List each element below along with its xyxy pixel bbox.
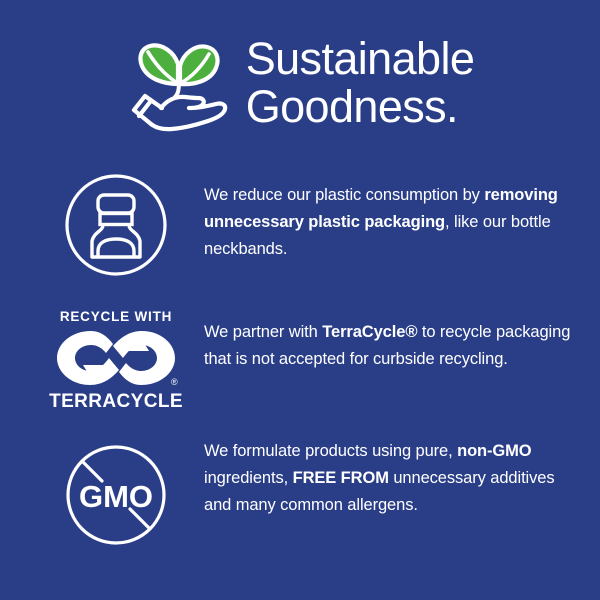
feature-text-gmo: We formulate products using pure, non-GM… (180, 430, 600, 519)
feature-row-gmo: GMO We formulate products using pure, no… (0, 430, 600, 565)
terracycle-bottom-label: TERRACYCLE (49, 391, 183, 412)
text-part: We formulate products using pure, (204, 442, 457, 460)
feature-text-terracycle: We partner with TerraCycle® to recycle p… (180, 295, 600, 373)
feature-row-plastic: We reduce our plastic consumption by rem… (0, 160, 600, 295)
feature-row-terracycle: RECYCLE WITH (0, 295, 600, 430)
feature-text-plastic: We reduce our plastic consumption by rem… (180, 160, 600, 263)
text-part: We partner with (204, 323, 322, 341)
plastic-bottle-icon (64, 173, 168, 277)
header: Sustainable Goodness. (0, 24, 600, 144)
text-part-bold: TerraCycle® (322, 323, 417, 341)
text-part: We reduce our plastic consumption by (204, 186, 484, 204)
gmo-label: GMO (79, 479, 153, 514)
text-part: ingredients, (204, 469, 293, 487)
feature-icon-wrap (52, 160, 180, 290)
sustainable-goodness-panel: Sustainable Goodness. (0, 0, 600, 600)
recycle-infinity-icon: ® (53, 327, 179, 389)
page-title: Sustainable Goodness. (246, 35, 475, 133)
terracycle-logo-icon: RECYCLE WITH (50, 309, 182, 412)
feature-icon-wrap: RECYCLE WITH (52, 295, 180, 425)
feature-list: We reduce our plastic consumption by rem… (0, 160, 600, 565)
no-gmo-icon: GMO (64, 443, 168, 547)
text-part-bold: FREE FROM (293, 469, 389, 487)
sprout-in-hand-icon (126, 38, 232, 134)
feature-icon-wrap: GMO (52, 430, 180, 560)
terracycle-top-label: RECYCLE WITH (60, 309, 172, 324)
text-part-bold: non-GMO (457, 442, 531, 460)
registered-mark: ® (171, 377, 178, 387)
